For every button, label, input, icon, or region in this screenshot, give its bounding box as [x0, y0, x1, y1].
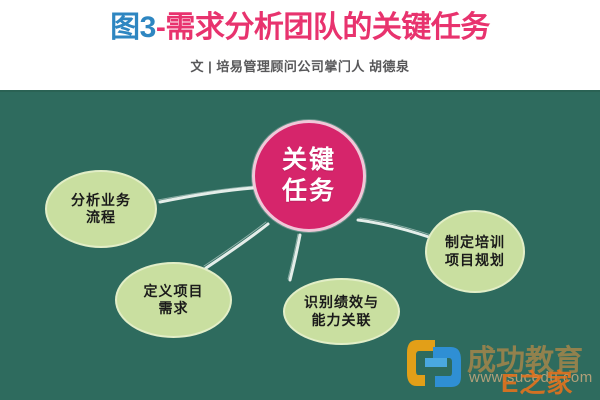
title-main-text: -需求分析团队的关键任务: [156, 11, 490, 44]
watermark-overlay-text: E之家: [501, 363, 573, 400]
diagram-board: 关键 任务 分析业务 流程 定义项目 需求 识别绩效与 能力关联 制定培训 项目…: [0, 90, 600, 400]
connector-center-to-plan: [358, 220, 432, 238]
header-band: 图3-需求分析团队的关键任务 文 | 培易管理顾问公司掌门人 胡德泉: [0, 0, 600, 90]
subtitle-byline: 文 | 培易管理顾问公司掌门人 胡德泉: [0, 56, 600, 75]
node-analyze-business-process[interactable]: 分析业务 流程: [45, 170, 157, 248]
node-develop-training-plan[interactable]: 制定培训 项目规划: [425, 210, 525, 293]
title-figure-number: 图3: [110, 11, 156, 44]
center-node-key-tasks[interactable]: 关键 任务: [252, 120, 366, 232]
connector-center-to-analyze: [160, 188, 253, 202]
brand-logo-icon: [405, 337, 463, 389]
figure-screenshot: 图3-需求分析团队的关键任务 文 | 培易管理顾问公司掌门人 胡德泉 关键 任务: [0, 0, 600, 400]
node-develop-training-plan-label: 制定培训 项目规划: [445, 234, 505, 269]
watermark: 成功教育 www.sucedu.com E之家: [405, 335, 600, 397]
node-define-project-requirements-label: 定义项目 需求: [144, 283, 204, 318]
node-analyze-business-process-label: 分析业务 流程: [71, 192, 131, 227]
connector-center-to-identify: [290, 235, 300, 280]
node-define-project-requirements[interactable]: 定义项目 需求: [115, 262, 232, 338]
node-identify-performance-capability[interactable]: 识别绩效与 能力关联: [283, 278, 400, 345]
page-title: 图3-需求分析团队的关键任务: [0, 8, 600, 48]
center-node-label: 关键 任务: [282, 145, 336, 208]
connector-center-to-define: [206, 224, 268, 268]
node-identify-performance-capability-label: 识别绩效与 能力关联: [304, 294, 379, 329]
